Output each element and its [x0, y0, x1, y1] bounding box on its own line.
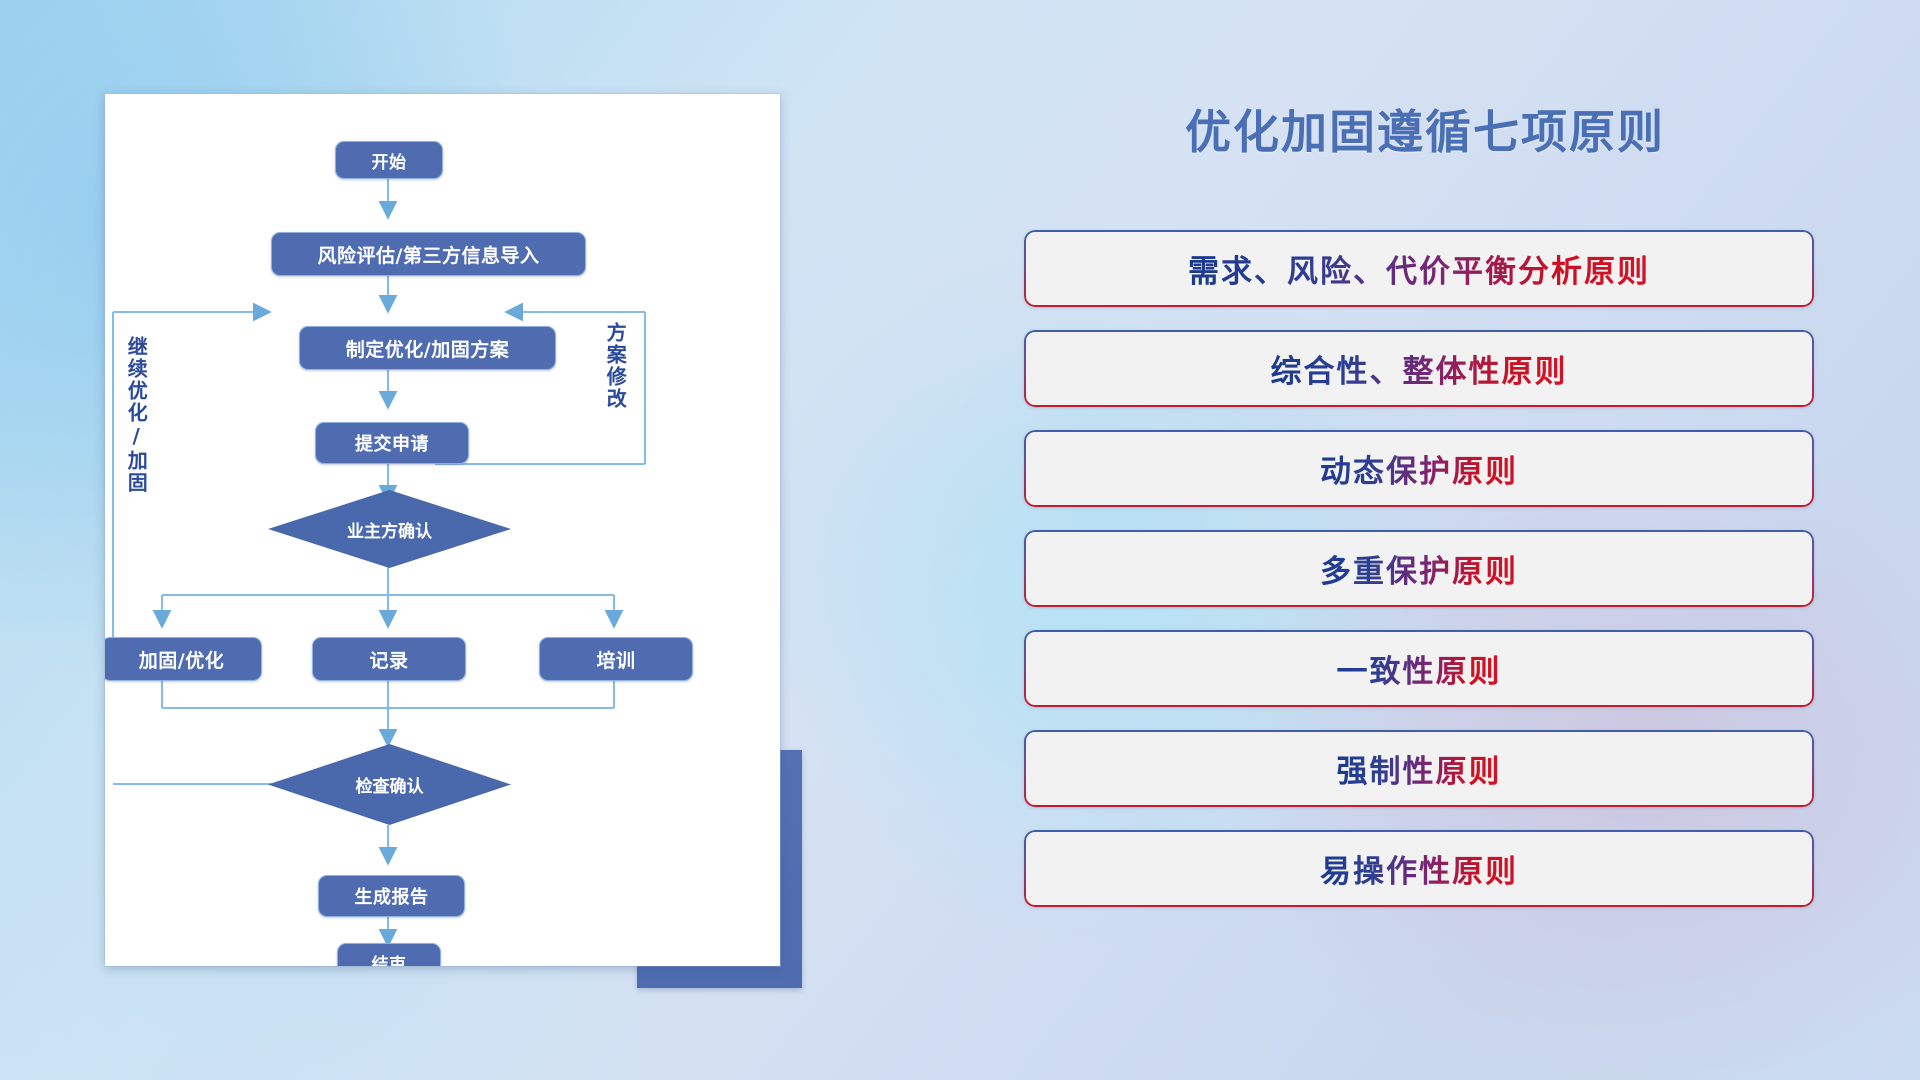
flow-decision-owner-confirm[interactable]: 业主方确认	[268, 490, 511, 568]
principle-label: 动态保护原则	[1320, 446, 1518, 491]
flow-node-generate-report[interactable]: 生成报告	[318, 875, 465, 917]
principle-item-2[interactable]: 综合性、整体性原则	[1024, 330, 1814, 407]
principle-label: 综合性、整体性原则	[1271, 346, 1568, 391]
principle-item-3[interactable]: 动态保护原则	[1024, 430, 1814, 507]
principle-label: 多重保护原则	[1320, 546, 1518, 591]
flow-node-end[interactable]: 结束	[337, 943, 441, 966]
flowchart-card: 开始 风险评估/第三方信息导入 制定优化/加固方案 提交申请 业主方确认 加固/…	[105, 94, 780, 966]
principle-item-6[interactable]: 强制性原则	[1024, 730, 1814, 807]
flow-edge-label-plan-revision: 方案修改	[604, 322, 625, 452]
flow-node-record[interactable]: 记录	[312, 637, 466, 681]
principle-item-5[interactable]: 一致性原则	[1024, 630, 1814, 707]
principle-item-7[interactable]: 易操作性原则	[1024, 830, 1814, 907]
flow-node-training[interactable]: 培训	[539, 637, 693, 681]
flow-edge-label-continue-optimize: 继续优化/加固	[125, 336, 146, 511]
principles-list: 需求、风险、代价平衡分析原则 综合性、整体性原则 动态保护原则 多重保护原则 一…	[1024, 230, 1814, 930]
principle-label: 需求、风险、代价平衡分析原则	[1188, 246, 1650, 291]
flow-decision-check-confirm[interactable]: 检查确认	[268, 744, 511, 825]
flow-node-start[interactable]: 开始	[335, 141, 443, 179]
principle-label: 一致性原则	[1337, 646, 1502, 691]
principle-label: 易操作性原则	[1320, 846, 1518, 891]
flow-node-submit-application[interactable]: 提交申请	[315, 422, 469, 464]
slide-background: 开始 风险评估/第三方信息导入 制定优化/加固方案 提交申请 业主方确认 加固/…	[0, 0, 1920, 1080]
principles-pane: 优化加固遵循七项原则 需求、风险、代价平衡分析原则 综合性、整体性原则 动态保护…	[1010, 96, 1840, 996]
page-title: 优化加固遵循七项原则	[1010, 96, 1840, 162]
principle-label: 强制性原则	[1337, 746, 1502, 791]
flow-node-reinforce[interactable]: 加固/优化	[105, 637, 262, 681]
principle-item-1[interactable]: 需求、风险、代价平衡分析原则	[1024, 230, 1814, 307]
flow-decision-check-confirm-label: 检查确认	[356, 772, 424, 797]
flow-decision-owner-confirm-label: 业主方确认	[347, 517, 432, 542]
flow-node-plan[interactable]: 制定优化/加固方案	[299, 326, 556, 370]
flow-node-risk-assessment[interactable]: 风险评估/第三方信息导入	[271, 232, 586, 276]
principle-item-4[interactable]: 多重保护原则	[1024, 530, 1814, 607]
